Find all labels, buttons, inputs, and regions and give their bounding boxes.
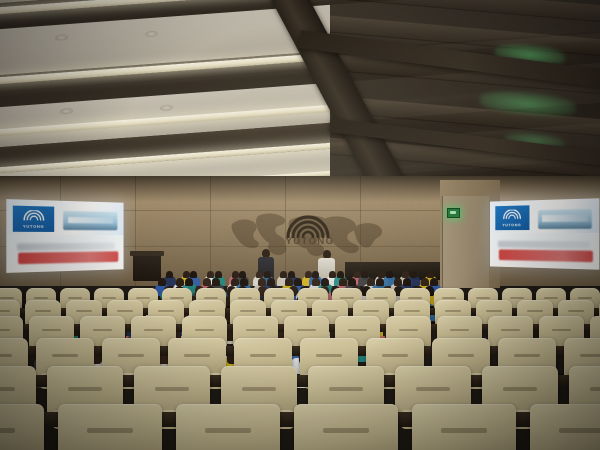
slide-brand-box: YUTONG bbox=[13, 205, 54, 232]
audience-head bbox=[361, 271, 368, 278]
audience-head bbox=[212, 278, 220, 286]
audience-head bbox=[403, 278, 411, 286]
audience-head bbox=[376, 278, 384, 286]
slide-subtitle-line bbox=[498, 241, 590, 249]
audience-head bbox=[166, 271, 173, 278]
wall-brand-logo: YUTONG bbox=[228, 208, 388, 260]
slide-product-photo bbox=[63, 211, 117, 231]
yutong-arc-logo-icon bbox=[22, 210, 45, 221]
audience-head bbox=[410, 271, 417, 278]
slide-subtitle-line bbox=[17, 243, 115, 251]
yutong-arc-logo-icon bbox=[284, 212, 332, 238]
audience-head bbox=[430, 278, 438, 286]
slide-brand-name: YUTONG bbox=[495, 222, 529, 227]
slide-brand-box: YUTONG bbox=[495, 206, 529, 230]
slide-product-photo bbox=[538, 208, 592, 228]
auditorium-seat bbox=[530, 404, 600, 450]
emergency-exit-icon bbox=[447, 208, 460, 218]
slide-right: YUTONG bbox=[490, 198, 599, 269]
slide-left: YUTONG bbox=[6, 199, 123, 273]
projection-screen-right: YUTONG bbox=[490, 198, 599, 269]
slide-brand-name: YUTONG bbox=[13, 223, 54, 229]
auditorium-seat bbox=[294, 404, 398, 450]
audience-head bbox=[294, 278, 302, 286]
auditorium-seat bbox=[58, 404, 162, 450]
lectern bbox=[133, 251, 161, 281]
audience-head bbox=[185, 278, 193, 286]
projection-screen-left: YUTONG bbox=[6, 199, 123, 273]
photo-scene: YUTONG YUTONG bbox=[0, 0, 600, 450]
wall-brand-name: YUTONG bbox=[280, 236, 340, 247]
auditorium-seat bbox=[176, 404, 280, 450]
slide-headline-line bbox=[499, 249, 593, 262]
audience-head bbox=[158, 278, 166, 286]
slide-headline-line bbox=[18, 251, 118, 264]
auditorium-seat bbox=[412, 404, 516, 450]
audience-head bbox=[386, 271, 393, 278]
auditorium-seat bbox=[0, 404, 44, 450]
audience-head bbox=[190, 271, 197, 278]
wall-ceiling-shadow bbox=[0, 176, 600, 202]
yutong-arc-logo-icon bbox=[502, 210, 521, 220]
